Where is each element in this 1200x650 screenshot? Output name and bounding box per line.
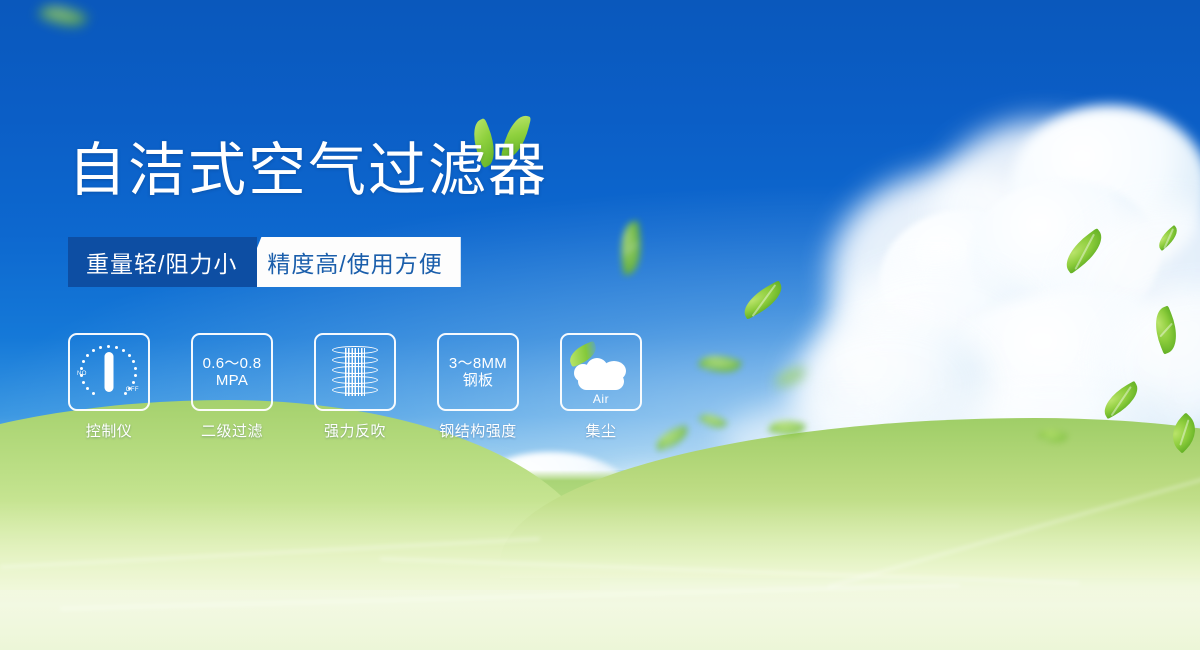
feature-label: 集尘 — [585, 420, 616, 441]
air-cloud-icon: Air — [572, 356, 630, 390]
feature-item-dust-collection[interactable]: Air 集尘 — [560, 333, 642, 441]
steel-text-icon: 3～8MM 钢板 — [449, 355, 507, 390]
pressure-text-icon: 0.6～0.8 MPA — [203, 355, 262, 390]
feature-item-backblow[interactable]: 强力反吹 — [314, 333, 396, 441]
gauge-needle — [105, 352, 114, 392]
banner-content: 自洁式空气过滤器 重量轻/阻力小 精度高/使用方便 — [0, 0, 1200, 650]
feature-icon-box: Air — [560, 333, 642, 411]
feature-icon-box: 3～8MM 钢板 — [437, 333, 519, 411]
air-caption: Air — [572, 392, 630, 406]
filter-stack-icon — [329, 344, 381, 400]
feature-text-line2: MPA — [203, 372, 262, 389]
feature-icon-box: 0.6～0.8 MPA — [191, 333, 273, 411]
feature-text-line1: 0.6～0.8 — [203, 355, 262, 372]
feature-item-two-stage-filter[interactable]: 0.6～0.8 MPA 二级过滤 — [191, 333, 273, 441]
feature-text-line1: 3～8MM — [449, 355, 507, 372]
gauge-label-no: NO — [77, 371, 87, 377]
feature-label: 强力反吹 — [324, 420, 386, 441]
feature-item-steel-strength[interactable]: 3～8MM 钢板 钢结构强度 — [437, 333, 519, 441]
cloud-base — [578, 373, 624, 390]
feature-icon-box — [314, 333, 396, 411]
gauge-label-off: OFF — [126, 387, 139, 393]
feature-icon-box: NO OFF — [68, 333, 150, 411]
feature-label: 钢结构强度 — [439, 420, 517, 441]
feature-list: NO OFF 控制仪 0.6～0.8 MPA 二级过滤 — [68, 333, 642, 441]
subtitle-right-segment: 精度高/使用方便 — [241, 237, 460, 287]
feature-label: 控制仪 — [86, 420, 133, 441]
feature-text-line2: 钢板 — [449, 372, 507, 389]
subtitle-bar: 重量轻/阻力小 精度高/使用方便 — [68, 237, 461, 287]
feature-item-controller[interactable]: NO OFF 控制仪 — [68, 333, 150, 441]
subtitle-left-segment: 重量轻/阻力小 — [68, 237, 257, 287]
banner-hero: 自洁式空气过滤器 重量轻/阻力小 精度高/使用方便 — [0, 0, 1200, 650]
gauge-icon: NO OFF — [78, 343, 140, 401]
page-title: 自洁式空气过滤器 — [68, 142, 548, 200]
feature-label: 二级过滤 — [201, 420, 263, 441]
